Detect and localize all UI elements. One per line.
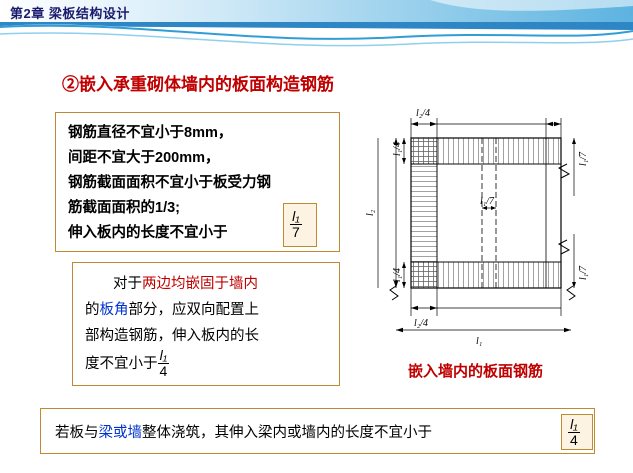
slab-rebar-diagram: l₂/4 l₁/7 l₁/4 l₁/4 l₂ l₁/7 l₂/4 l₁ l₁/7 [356,104,621,354]
corner-line-1: 对于两边均嵌固于墙内 [85,271,329,297]
monolithic-note-text: 若板与梁或墙整体浇筑，其伸入梁内或墙内的长度不宜小于 [55,421,432,442]
label-left-upper: l₁/4 [392,142,403,156]
corner-line-2-part-a: 的 [85,302,100,318]
label-left-axis: l₂ [365,209,376,216]
corner-fraction: l₁4 [158,348,170,378]
corner-fraction-denominator: 4 [158,363,170,379]
label-left-lower: l₁/4 [392,268,403,282]
corner-line-2-highlight: 板角 [100,302,129,318]
monolithic-fraction-denominator: 4 [568,432,580,448]
monolithic-note-box: 若板与梁或墙整体浇筑，其伸入梁内或墙内的长度不宜小于 [40,408,595,454]
corner-line-4-text: 度不宜小于 [85,356,158,372]
spec-line-2: 间距不宜大于200mm， [68,146,331,171]
corner-line-2: 的板角部分，应双向配置上 [85,297,329,323]
page-header: 第2章 梁板结构设计 [0,0,633,56]
corner-line-3: 部构造钢筋，伸入板内的长 [85,323,329,349]
label-center: l₁/7 [480,196,495,207]
corner-fraction-numerator: l₁ [158,348,170,363]
monolithic-part-a: 若板与 [55,425,99,441]
slab-rebar-drawing: l₂/4 l₁/7 l₁/4 l₁/4 l₂ l₁/7 l₂/4 l₁ l₁/7 [356,104,621,354]
spec-fraction-numerator: l₁ [290,209,302,224]
label-bottom-axis: l₁ [476,336,482,347]
spec-line-3: 钢筋截面面积不宜小于板受力钢 [68,171,331,196]
spec-line-1: 钢筋直径不宜小于8mm， [68,121,331,146]
corner-line-4: 度不宜小于l₁4 [85,349,329,379]
label-right-lower: l₁/7 [578,265,589,280]
page-title: 第2章 梁板结构设计 [10,3,130,22]
label-bottom-left: l₂/4 [414,318,428,329]
corner-line-1-highlight: 两边均嵌固于墙内 [142,276,258,292]
spec-fraction-denominator: 7 [290,224,302,240]
label-top-left: l₂/4 [416,108,430,119]
spec-fraction-box: l₁ 7 [283,203,317,247]
corner-line-2-part-c: 部分，应双向配置上 [129,302,260,318]
label-top-right: l₁/7 [578,151,589,166]
corner-line-1-part-a: 对于 [113,276,142,292]
section-heading: ②嵌入承重砌体墙内的板面构造钢筋 [62,70,334,95]
monolithic-highlight: 梁或墙 [99,425,143,441]
corner-rebar-textbox: 对于两边均嵌固于墙内 的板角部分，应双向配置上 部构造钢筋，伸入板内的长 度不宜… [72,262,340,386]
monolithic-fraction-numerator: l₁ [568,417,580,432]
monolithic-part-c: 整体浇筑，其伸入梁内或墙内的长度不宜小于 [142,425,432,441]
monolithic-fraction-box: l₁ 4 [561,414,593,450]
diagram-caption: 嵌入墙内的板面钢筋 [408,360,543,381]
